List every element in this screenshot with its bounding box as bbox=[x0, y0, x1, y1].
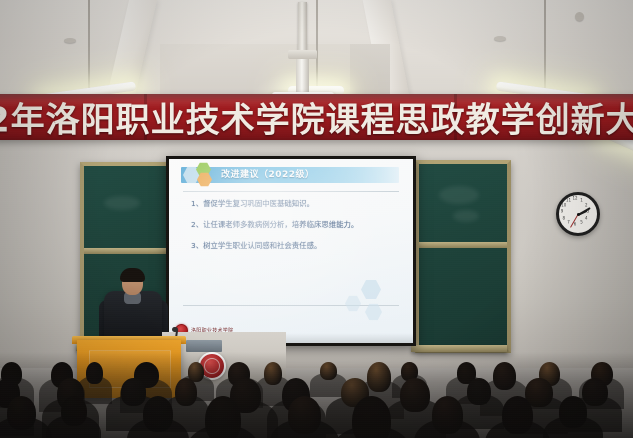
chalk-smudge bbox=[104, 196, 140, 210]
light-suspension-rod bbox=[88, 0, 90, 88]
slide-rule-bottom bbox=[183, 305, 399, 306]
clock-center-pin bbox=[577, 213, 580, 216]
slide-rule-top bbox=[183, 191, 399, 192]
audience-shadow bbox=[0, 352, 633, 438]
clock-numeral: 10 bbox=[561, 202, 566, 207]
lecture-hall-photo: 2年洛阳职业技术学院课程思政教学创新大赛 改进建议（2022级） 1、督促学生复… bbox=[0, 0, 633, 438]
slide-bullet: 3、树立学生职业认同感和社会责任感。 bbox=[191, 241, 397, 250]
clock-numeral: 9 bbox=[561, 209, 564, 214]
chalkboard-right bbox=[415, 160, 511, 353]
wall-shadow-right bbox=[513, 140, 633, 368]
slide-bullet-list: 1、督促学生复习巩固中医基础知识。2、让任课老师多教病例分析，培养临床思维能力。… bbox=[191, 199, 397, 262]
projector-pole bbox=[298, 2, 307, 54]
hexagon-decoration-icon bbox=[361, 279, 381, 300]
wall-clock: 121234567891011 bbox=[556, 192, 600, 236]
seated-audience bbox=[0, 352, 633, 438]
hexagon-decoration-icon bbox=[345, 295, 361, 312]
clock-numeral: 11 bbox=[566, 197, 571, 202]
light-suspension-rod bbox=[316, 0, 318, 86]
chalk-smudge bbox=[439, 186, 479, 204]
smoke-detector-icon bbox=[64, 38, 76, 43]
chalk-ledge-right bbox=[411, 345, 507, 352]
slide-title: 改进建议（2022级） bbox=[221, 167, 315, 183]
event-banner: 2年洛阳职业技术学院课程思政教学创新大赛 bbox=[0, 94, 633, 140]
clock-numeral: 4 bbox=[585, 215, 588, 220]
projection-screen: 改进建议（2022级） 1、督促学生复习巩固中医基础知识。2、让任课老师多教病例… bbox=[166, 156, 416, 346]
presenter-hair bbox=[120, 268, 145, 282]
projector-arm bbox=[296, 59, 309, 93]
chalkboard-divider bbox=[84, 248, 174, 254]
sprinkler-icon bbox=[575, 12, 584, 21]
microphone-icon bbox=[172, 327, 178, 332]
slide-bullet: 1、督促学生复习巩固中医基础知识。 bbox=[191, 199, 397, 208]
clock-numeral: 12 bbox=[572, 196, 577, 201]
clock-numeral: 8 bbox=[562, 215, 565, 220]
clock-numeral: 7 bbox=[567, 220, 570, 225]
smoke-detector-icon bbox=[494, 36, 506, 41]
presentation-slide: 改进建议（2022级） 1、督促学生复习巩固中医基础知识。2、让任课老师多教病例… bbox=[169, 159, 413, 343]
laptop bbox=[186, 340, 222, 352]
clock-numeral: 1 bbox=[580, 197, 583, 202]
ceiling-soffit-secondary bbox=[350, 44, 390, 96]
light-suspension-rod bbox=[544, 0, 546, 88]
chalk-smudge bbox=[453, 210, 479, 222]
banner-title: 2年洛阳职业技术学院课程思政教学创新大赛 bbox=[0, 94, 633, 140]
projector-mount bbox=[288, 50, 317, 59]
chalkboard-divider bbox=[419, 242, 507, 248]
slide-bullet: 2、让任课老师多教病例分析，培养临床思维能力。 bbox=[191, 220, 397, 229]
clock-numeral: 5 bbox=[580, 220, 583, 225]
clock-numeral: 2 bbox=[585, 202, 588, 207]
